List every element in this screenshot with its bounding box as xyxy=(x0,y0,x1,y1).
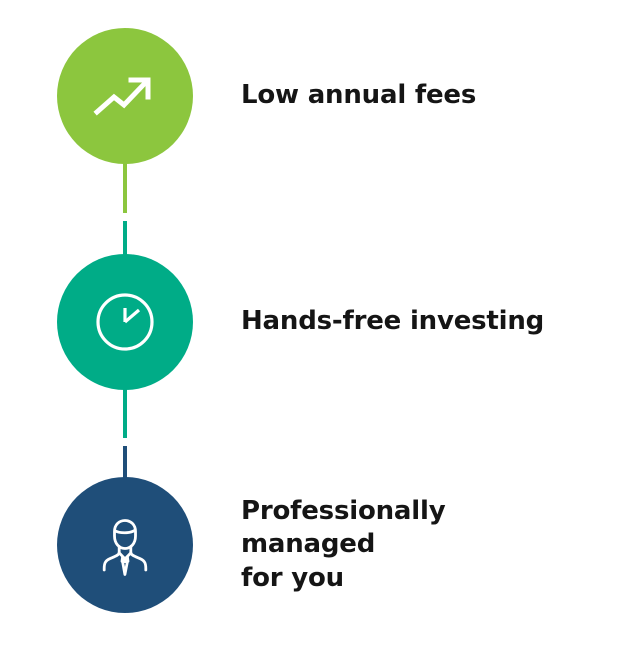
business-person-icon xyxy=(93,513,157,577)
benefit-label-1: Low annual fees xyxy=(241,79,476,112)
benefit-icon-badge-3 xyxy=(57,477,193,613)
benefits-infographic: Low annual fees Hands-free investing xyxy=(0,0,640,663)
benefit-icon-badge-2 xyxy=(57,254,193,390)
benefit-label-3: Professionally managed for you xyxy=(241,495,581,594)
connector-line-1-lower xyxy=(123,221,127,258)
connector-line-2-upper xyxy=(123,386,127,438)
benefit-item-low-annual-fees: Low annual fees xyxy=(0,28,640,164)
benefit-item-hands-free-investing: Hands-free investing xyxy=(0,254,640,390)
benefit-icon-badge-1 xyxy=(57,28,193,164)
clock-icon xyxy=(94,291,156,353)
benefit-item-professionally-managed: Professionally managed for you xyxy=(0,477,640,613)
benefit-label-2: Hands-free investing xyxy=(241,305,544,338)
connector-line-1-upper xyxy=(123,160,127,213)
trending-up-arrow-icon xyxy=(93,70,157,122)
